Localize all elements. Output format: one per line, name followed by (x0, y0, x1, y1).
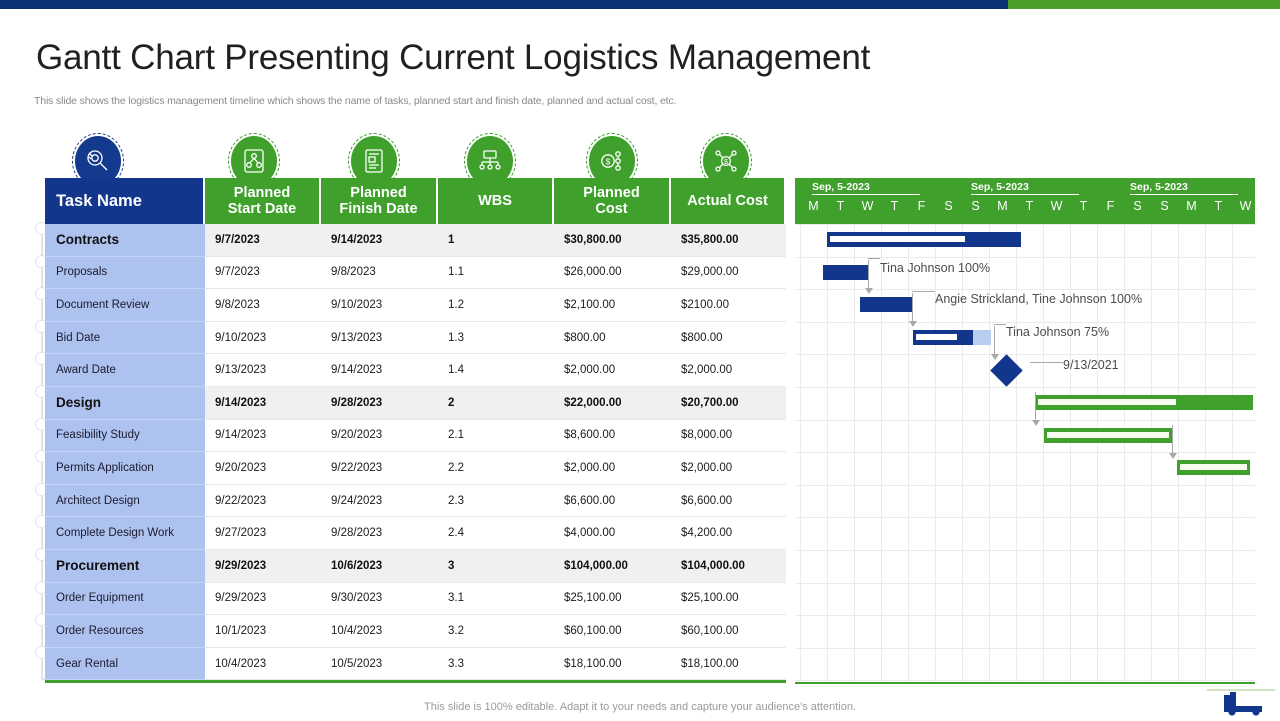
gantt-gridline-horizontal (795, 322, 1255, 323)
cell-task-name: Architect Design (45, 485, 205, 518)
gantt-month-label: Sep, 5-2023 (971, 181, 1079, 195)
cell-task-name: Award Date (45, 354, 205, 387)
gantt-label-leader (868, 258, 880, 259)
cell-wbs: 2.3 (438, 485, 554, 518)
table-row[interactable]: Order Equipment9/29/20239/30/20233.1$25,… (45, 583, 786, 616)
gantt-day-label: T (1205, 199, 1232, 213)
table-row[interactable]: Order Resources10/1/202310/4/20233.2$60,… (45, 615, 786, 648)
link-feasibility-to-permits (1172, 425, 1173, 453)
cell-planned-start-date: 9/14/2023 (205, 420, 321, 453)
cell-planned-start-date: 9/7/2023 (205, 224, 321, 257)
cell-actual-cost: $2,000.00 (671, 354, 786, 387)
page-title: Gantt Chart Presenting Current Logistics… (36, 38, 870, 78)
cell-wbs: 3 (438, 550, 554, 583)
gantt-bar-label: Tina Johnson 100% (880, 261, 990, 275)
gantt-bar[interactable] (1035, 395, 1253, 410)
gantt-bar-progress (1047, 432, 1169, 438)
table-row[interactable]: Document Review9/8/20239/10/20231.2$2,10… (45, 289, 786, 322)
top-accent-green (1008, 0, 1280, 9)
gantt-bar-label: Angie Strickland, Tine Johnson 100% (935, 292, 1142, 306)
cell-actual-cost: $35,800.00 (671, 224, 786, 257)
column-header-label: Actual Cost (687, 193, 768, 209)
cell-actual-cost: $4,200.00 (671, 517, 786, 550)
table-row[interactable]: Gear Rental10/4/202310/5/20233.3$18,100.… (45, 648, 786, 681)
cell-planned-finish-date: 9/10/2023 (321, 289, 438, 322)
link-proposals-to-document-review-arrow (865, 288, 873, 294)
column-header-planned-start-date[interactable]: PlannedStart Date (205, 178, 321, 224)
cell-planned-finish-date: 9/20/2023 (321, 420, 438, 453)
cell-wbs: 1.1 (438, 257, 554, 290)
gantt-label-leader (912, 291, 935, 292)
column-header-label: PlannedFinish Date (339, 185, 417, 217)
cell-planned-start-date: 9/29/2023 (205, 583, 321, 616)
cell-planned-start-date: 9/10/2023 (205, 322, 321, 355)
table-row[interactable]: Complete Design Work9/27/20239/28/20232.… (45, 517, 786, 550)
table-row[interactable]: Design9/14/20239/28/20232$22,000.00$20,7… (45, 387, 786, 420)
gantt-bar[interactable] (860, 297, 912, 312)
cell-actual-cost: $20,700.00 (671, 387, 786, 420)
table-header-row: Task NamePlannedStart DatePlannedFinish … (45, 178, 786, 224)
cell-actual-cost: $800.00 (671, 322, 786, 355)
gantt-day-label: W (1043, 199, 1070, 213)
cell-planned-finish-date: 9/8/2023 (321, 257, 438, 290)
cell-planned-cost: $6,600.00 (554, 485, 671, 518)
cell-actual-cost: $25,100.00 (671, 583, 786, 616)
cell-planned-start-date: 10/1/2023 (205, 615, 321, 648)
cell-planned-cost: $25,100.00 (554, 583, 671, 616)
gantt-gridline-horizontal (795, 485, 1255, 486)
cell-wbs: 3.2 (438, 615, 554, 648)
gantt-day-label: M (1178, 199, 1205, 213)
page-subtitle: This slide shows the logistics managemen… (34, 95, 676, 107)
cell-planned-finish-date: 9/30/2023 (321, 583, 438, 616)
gantt-bar[interactable] (1044, 428, 1172, 443)
link-document-review-to-bid-date-arrow (909, 321, 917, 327)
gantt-day-label: M (989, 199, 1016, 213)
table-bottom-rule (45, 680, 786, 683)
gantt-bar-remaining (973, 330, 991, 345)
gantt-gridline-horizontal (795, 615, 1255, 616)
cell-wbs: 2 (438, 387, 554, 420)
cell-actual-cost: $60,100.00 (671, 615, 786, 648)
cell-task-name: Procurement (45, 550, 205, 583)
cell-planned-cost: $800.00 (554, 322, 671, 355)
gantt-day-label: W (854, 199, 881, 213)
cell-planned-start-date: 9/7/2023 (205, 257, 321, 290)
gantt-day-label: W (1232, 199, 1259, 213)
cell-actual-cost: $18,100.00 (671, 648, 786, 681)
cell-actual-cost: $2100.00 (671, 289, 786, 322)
cell-task-name: Order Equipment (45, 583, 205, 616)
gantt-month-text: Sep, 5-2023 (971, 181, 1079, 195)
gantt-bar[interactable] (913, 330, 973, 345)
cell-actual-cost: $104,000.00 (671, 550, 786, 583)
gantt-day-label: S (1124, 199, 1151, 213)
cell-planned-cost: $104,000.00 (554, 550, 671, 583)
cell-planned-cost: $4,000.00 (554, 517, 671, 550)
gantt-gridline-horizontal (795, 420, 1255, 421)
table-row[interactable]: Feasibility Study9/14/20239/20/20232.1$8… (45, 420, 786, 453)
cell-wbs: 1.4 (438, 354, 554, 387)
cell-planned-finish-date: 10/6/2023 (321, 550, 438, 583)
gantt-header: Sep, 5-2023Sep, 5-2023Sep, 5-2023MTWTFSS… (795, 178, 1255, 224)
gantt-day-label: S (1151, 199, 1178, 213)
gantt-bar[interactable] (823, 265, 868, 280)
table-row[interactable]: Contracts9/7/20239/14/20231$30,800.00$35… (45, 224, 786, 257)
cell-planned-finish-date: 10/5/2023 (321, 648, 438, 681)
column-header-actual-cost[interactable]: Actual Cost (671, 178, 786, 224)
gantt-gridline-horizontal (795, 387, 1255, 388)
gantt-bar-progress (916, 334, 957, 340)
cell-wbs: 1.3 (438, 322, 554, 355)
gantt-bar-progress (1038, 399, 1176, 405)
cell-planned-cost: $2,000.00 (554, 452, 671, 485)
cell-planned-cost: $26,000.00 (554, 257, 671, 290)
column-header-wbs[interactable]: WBS (438, 178, 554, 224)
gantt-month-text: Sep, 5-2023 (812, 181, 920, 195)
cell-planned-finish-date: 9/24/2023 (321, 485, 438, 518)
link-bid-date-to-award-date-arrow (991, 354, 999, 360)
table-row[interactable]: Award Date9/13/20239/14/20231.4$2,000.00… (45, 354, 786, 387)
cell-task-name: Order Resources (45, 615, 205, 648)
cell-planned-finish-date: 9/14/2023 (321, 354, 438, 387)
column-header-label: PlannedStart Date (228, 185, 297, 217)
cell-task-name: Permits Application (45, 452, 205, 485)
cell-planned-start-date: 9/8/2023 (205, 289, 321, 322)
gantt-gridline-horizontal (795, 224, 1255, 225)
cell-planned-start-date: 9/27/2023 (205, 517, 321, 550)
gantt-day-label: T (827, 199, 854, 213)
cell-planned-finish-date: 9/28/2023 (321, 387, 438, 420)
cell-planned-start-date: 9/22/2023 (205, 485, 321, 518)
gantt-gridline-horizontal (795, 648, 1255, 649)
gantt-bar-progress (1180, 464, 1247, 470)
gantt-bar[interactable] (827, 232, 1021, 247)
cell-planned-finish-date: 9/14/2023 (321, 224, 438, 257)
cell-wbs: 2.1 (438, 420, 554, 453)
cell-task-name: Bid Date (45, 322, 205, 355)
table-row[interactable]: Architect Design9/22/20239/24/20232.3$6,… (45, 485, 786, 518)
table-row[interactable]: Bid Date9/10/20239/13/20231.3$800.00$800… (45, 322, 786, 355)
table-row[interactable]: Permits Application9/20/20239/22/20232.2… (45, 452, 786, 485)
link-feasibility-to-permits-arrow (1169, 453, 1177, 459)
column-header-planned-cost[interactable]: PlannedCost (554, 178, 671, 224)
column-header-label: PlannedCost (583, 185, 639, 217)
link-bid-date-to-award-date (994, 326, 995, 354)
gantt-day-label: S (962, 199, 989, 213)
gantt-bar-label: 9/13/2021 (1063, 358, 1119, 372)
footer-note: This slide is 100% editable. Adapt it to… (0, 701, 1280, 713)
gantt-gridline-horizontal (795, 517, 1255, 518)
link-document-review-to-bid-date (912, 293, 913, 321)
gantt-chart: Sep, 5-2023Sep, 5-2023Sep, 5-2023MTWTFSS… (795, 178, 1255, 682)
gantt-bar[interactable] (1177, 460, 1250, 475)
cell-actual-cost: $8,000.00 (671, 420, 786, 453)
top-accent-navy (0, 0, 1008, 9)
cell-planned-finish-date: 9/28/2023 (321, 517, 438, 550)
cell-wbs: 1 (438, 224, 554, 257)
cell-task-name: Document Review (45, 289, 205, 322)
cell-planned-start-date: 9/14/2023 (205, 387, 321, 420)
gantt-month-text: Sep, 5-2023 (1130, 181, 1238, 195)
cell-wbs: 2.2 (438, 452, 554, 485)
link-design-to-feasibility (1035, 392, 1036, 420)
gantt-day-label: S (935, 199, 962, 213)
cell-actual-cost: $6,600.00 (671, 485, 786, 518)
cell-planned-cost: $18,100.00 (554, 648, 671, 681)
cell-wbs: 2.4 (438, 517, 554, 550)
cell-planned-cost: $2,100.00 (554, 289, 671, 322)
gantt-day-label: T (1016, 199, 1043, 213)
gantt-bottom-rule (795, 682, 1255, 684)
cell-planned-start-date: 9/20/2023 (205, 452, 321, 485)
column-header-planned-finish-date[interactable]: PlannedFinish Date (321, 178, 438, 224)
cell-task-name: Proposals (45, 257, 205, 290)
gantt-bar-progress (830, 236, 965, 242)
gantt-label-leader (1030, 362, 1063, 363)
task-table: Task NamePlannedStart DatePlannedFinish … (45, 178, 786, 683)
cell-wbs: 1.2 (438, 289, 554, 322)
cell-actual-cost: $2,000.00 (671, 452, 786, 485)
cell-wbs: 3.1 (438, 583, 554, 616)
truck-icon (1222, 692, 1266, 721)
gantt-gridline-horizontal (795, 452, 1255, 453)
cell-task-name: Complete Design Work (45, 517, 205, 550)
gantt-day-label: F (1097, 199, 1124, 213)
gantt-day-label: T (1070, 199, 1097, 213)
gantt-gridline-horizontal (795, 257, 1255, 258)
gantt-day-label: M (800, 199, 827, 213)
gantt-gridline-horizontal (795, 550, 1255, 551)
cell-planned-finish-date: 9/22/2023 (321, 452, 438, 485)
table-row[interactable]: Procurement9/29/202310/6/20233$104,000.0… (45, 550, 786, 583)
gantt-day-label: F (908, 199, 935, 213)
cell-task-name: Contracts (45, 224, 205, 257)
cell-planned-cost: $2,000.00 (554, 354, 671, 387)
column-header-label: Task Name (56, 192, 142, 210)
cell-planned-start-date: 9/13/2023 (205, 354, 321, 387)
link-proposals-to-document-review (868, 260, 869, 288)
gantt-gridline-horizontal (795, 354, 1255, 355)
gantt-bar-label: Tina Johnson 75% (1006, 325, 1109, 339)
cell-planned-cost: $8,600.00 (554, 420, 671, 453)
cell-task-name: Design (45, 387, 205, 420)
gantt-month-label: Sep, 5-2023 (812, 181, 920, 195)
cell-task-name: Feasibility Study (45, 420, 205, 453)
column-header-task-name[interactable]: Task Name (45, 178, 205, 224)
gantt-label-leader (994, 324, 1006, 325)
cell-actual-cost: $29,000.00 (671, 257, 786, 290)
link-design-to-feasibility-arrow (1032, 420, 1040, 426)
svg-text:$: $ (724, 159, 728, 166)
svg-text:$: $ (606, 157, 611, 166)
column-header-label: WBS (478, 193, 512, 209)
cell-planned-cost: $22,000.00 (554, 387, 671, 420)
cell-planned-start-date: 9/29/2023 (205, 550, 321, 583)
gantt-day-label: T (881, 199, 908, 213)
gantt-gridline-horizontal (795, 583, 1255, 584)
cell-planned-start-date: 10/4/2023 (205, 648, 321, 681)
gantt-month-label: Sep, 5-2023 (1130, 181, 1238, 195)
cell-planned-finish-date: 9/13/2023 (321, 322, 438, 355)
gantt-body: Tina Johnson 100%Angie Strickland, Tine … (795, 224, 1255, 682)
cell-planned-cost: $60,100.00 (554, 615, 671, 648)
cell-planned-cost: $30,800.00 (554, 224, 671, 257)
cell-wbs: 3.3 (438, 648, 554, 681)
cell-task-name: Gear Rental (45, 648, 205, 681)
footer-rule (1207, 689, 1275, 691)
cell-planned-finish-date: 10/4/2023 (321, 615, 438, 648)
table-body: Contracts9/7/20239/14/20231$30,800.00$35… (45, 224, 786, 680)
top-accent-bar (0, 0, 1280, 9)
table-row[interactable]: Proposals9/7/20239/8/20231.1$26,000.00$2… (45, 257, 786, 290)
